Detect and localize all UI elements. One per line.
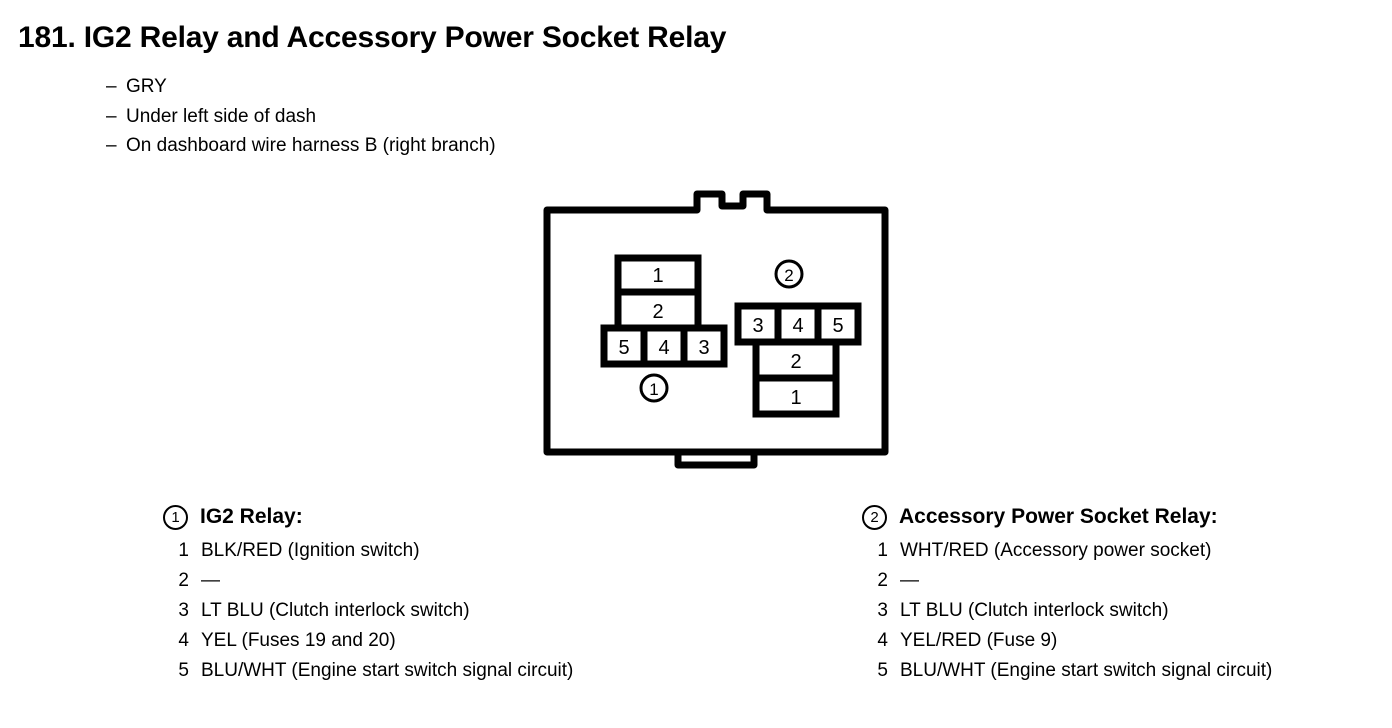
legend-pin-row: 3 LT BLU (Clutch interlock switch) <box>862 600 1272 630</box>
legend-pin-row: 1 WHT/RED (Accessory power socket) <box>862 540 1272 570</box>
terminal-label-5: 5 <box>832 315 843 337</box>
legend-pin-row: 5 BLU/WHT (Engine start switch signal ci… <box>163 660 573 690</box>
legend-pin-row: 2 — <box>163 570 573 600</box>
note-item: –Under left side of dash <box>106 102 496 132</box>
pin-number: 4 <box>163 630 189 652</box>
note-list: –GRY –Under left side of dash –On dashbo… <box>106 72 496 161</box>
legend-title: Accessory Power Socket Relay: <box>899 505 1218 529</box>
terminal-label-3: 3 <box>698 337 709 359</box>
pin-description: WHT/RED (Accessory power socket) <box>900 540 1211 562</box>
terminal-label-1: 1 <box>790 387 801 409</box>
connector-marker-1: 1 <box>641 375 667 401</box>
accessory-power-socket-relay-terminal-block: 3 4 5 2 1 <box>738 306 858 414</box>
pin-description: — <box>201 570 220 592</box>
terminal-label-2: 2 <box>652 301 663 323</box>
legend-pin-list: 1 WHT/RED (Accessory power socket) 2 — 3… <box>862 540 1272 690</box>
pin-number: 2 <box>862 570 888 592</box>
ig2-relay-terminal-block: 1 2 5 4 3 <box>604 258 724 364</box>
note-text: GRY <box>126 76 167 97</box>
pin-number: 3 <box>862 600 888 622</box>
terminal-label-4: 4 <box>658 337 669 359</box>
pin-description: BLU/WHT (Engine start switch signal circ… <box>201 660 573 682</box>
note-dash: – <box>106 102 126 132</box>
terminal-label-1: 1 <box>652 265 663 287</box>
note-dash: – <box>106 72 126 102</box>
page-title: 181. IG2 Relay and Accessory Power Socke… <box>18 21 726 55</box>
pin-number: 1 <box>862 540 888 562</box>
pin-description: LT BLU (Clutch interlock switch) <box>900 600 1169 622</box>
legend-accessory-power-socket-relay: 2 Accessory Power Socket Relay: 1 WHT/RE… <box>862 500 1272 690</box>
legend-title: IG2 Relay: <box>200 505 303 529</box>
connector-marker-2: 2 <box>776 261 802 287</box>
pin-description: — <box>900 570 919 592</box>
pin-number: 3 <box>163 600 189 622</box>
legend-pin-row: 5 BLU/WHT (Engine start switch signal ci… <box>862 660 1272 690</box>
legend-pin-row: 4 YEL (Fuses 19 and 20) <box>163 630 573 660</box>
legend-pin-row: 4 YEL/RED (Fuse 9) <box>862 630 1272 660</box>
note-item: –On dashboard wire harness B (right bran… <box>106 131 496 161</box>
pin-number: 4 <box>862 630 888 652</box>
legend-marker-1-icon: 1 <box>163 505 188 530</box>
legend-pin-row: 2 — <box>862 570 1272 600</box>
legend-pin-list: 1 BLK/RED (Ignition switch) 2 — 3 LT BLU… <box>163 540 573 690</box>
pin-description: BLK/RED (Ignition switch) <box>201 540 420 562</box>
legend-header: 1 IG2 Relay: <box>163 500 573 534</box>
pin-number: 5 <box>163 660 189 682</box>
pin-description: LT BLU (Clutch interlock switch) <box>201 600 470 622</box>
note-dash: – <box>106 131 126 161</box>
note-text: Under left side of dash <box>126 106 316 127</box>
pin-description: YEL (Fuses 19 and 20) <box>201 630 396 652</box>
connector-marker-1-label: 1 <box>649 380 658 399</box>
terminal-label-4: 4 <box>792 315 803 337</box>
legend-pin-row: 3 LT BLU (Clutch interlock switch) <box>163 600 573 630</box>
pin-description: BLU/WHT (Engine start switch signal circ… <box>900 660 1272 682</box>
note-text: On dashboard wire harness B (right branc… <box>126 135 496 156</box>
pin-number: 2 <box>163 570 189 592</box>
terminal-label-3: 3 <box>752 315 763 337</box>
pin-number: 5 <box>862 660 888 682</box>
legend-ig2-relay: 1 IG2 Relay: 1 BLK/RED (Ignition switch)… <box>163 500 573 690</box>
pin-description: YEL/RED (Fuse 9) <box>900 630 1057 652</box>
terminal-label-2: 2 <box>790 351 801 373</box>
legend-marker-2-icon: 2 <box>862 505 887 530</box>
terminal-label-5: 5 <box>618 337 629 359</box>
legend-pin-row: 1 BLK/RED (Ignition switch) <box>163 540 573 570</box>
legend-header: 2 Accessory Power Socket Relay: <box>862 500 1272 534</box>
connector-diagram: 1 2 5 4 3 1 3 4 5 2 1 2 <box>530 180 902 472</box>
note-item: –GRY <box>106 72 496 102</box>
pin-number: 1 <box>163 540 189 562</box>
connector-marker-2-label: 2 <box>784 266 793 285</box>
